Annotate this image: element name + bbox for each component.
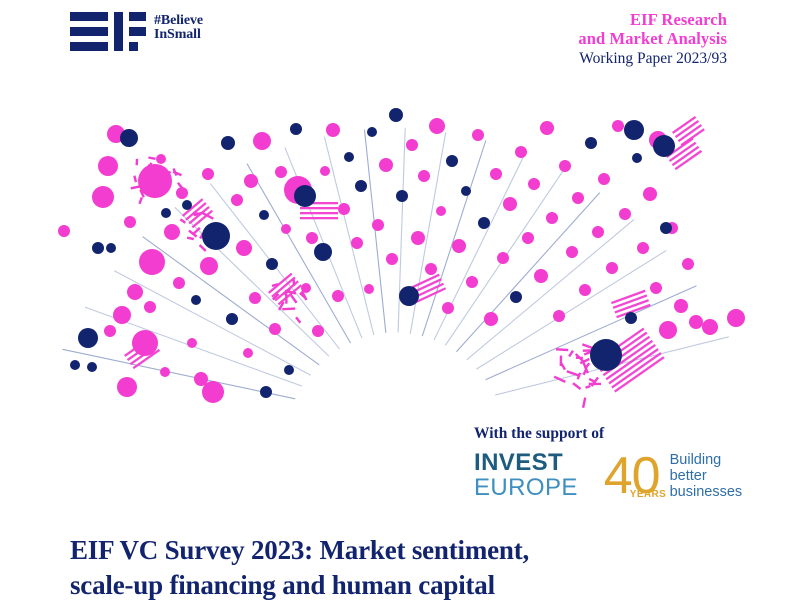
- pink-dot: [619, 208, 631, 220]
- pink-dot: [104, 325, 116, 337]
- pink-dot: [164, 224, 180, 240]
- pink-dot: [598, 173, 610, 185]
- pink-dot: [572, 192, 584, 204]
- pink-dot: [559, 160, 571, 172]
- navy-dot: [87, 362, 97, 372]
- navy-dot: [290, 123, 302, 135]
- pink-dot: [92, 186, 114, 208]
- pink-dot: [528, 178, 540, 190]
- pink-dot: [484, 312, 498, 326]
- pink-dot: [320, 166, 330, 176]
- pink-dot: [200, 257, 218, 275]
- years-label: YEARS: [630, 489, 666, 500]
- navy-dot: [367, 127, 377, 137]
- navy-dot: [510, 291, 522, 303]
- pink-dot: [249, 292, 261, 304]
- pink-dot: [411, 231, 425, 245]
- pink-dot: [173, 277, 185, 289]
- pink-dot: [139, 249, 165, 275]
- eif-logo-icon: [70, 10, 146, 55]
- pink-dot: [236, 240, 252, 256]
- pink-dot: [312, 325, 324, 337]
- pink-dot: [606, 262, 618, 274]
- pink-dot: [144, 301, 156, 313]
- pink-dot: [156, 154, 166, 164]
- pink-dot: [244, 174, 258, 188]
- pink-dot: [187, 338, 197, 348]
- burst-svg: [0, 80, 791, 425]
- pink-dot: [379, 158, 393, 172]
- pink-dot: [231, 194, 243, 206]
- series-title: EIF Research and Market Analysis: [578, 10, 727, 48]
- pink-dot: [351, 237, 363, 249]
- pink-dot: [452, 239, 466, 253]
- ray-line: [467, 219, 634, 359]
- eif-logo-block: #Believe InSmall: [70, 10, 203, 55]
- invest-europe-europe-word: EUROPE: [474, 476, 578, 500]
- tagline-line-2: InSmall: [154, 28, 203, 42]
- pink-dot: [429, 118, 445, 134]
- pink-dot: [306, 232, 318, 244]
- support-logos: INVEST EUROPE 40 YEARS Building better b…: [474, 451, 734, 500]
- pink-dot: [275, 166, 287, 178]
- pink-dot: [243, 348, 253, 358]
- pink-dot: [160, 367, 170, 377]
- radial-burst-graphic: [0, 80, 791, 425]
- navy-dot: [259, 210, 269, 220]
- pink-dot: [98, 156, 118, 176]
- pink-dot: [338, 203, 350, 215]
- pink-dot: [674, 299, 688, 313]
- pink-dot: [612, 120, 624, 132]
- navy-dot: [294, 185, 316, 207]
- page-title: EIF VC Survey 2023: Market sentiment, sc…: [70, 533, 670, 600]
- pink-dot: [637, 242, 649, 254]
- navy-dot: [653, 135, 675, 157]
- navy-dot: [182, 200, 192, 210]
- navy-dot: [478, 217, 490, 229]
- pink-dot: [281, 224, 291, 234]
- navy-dot: [399, 286, 419, 306]
- navy-dot: [590, 339, 622, 371]
- pink-dot: [540, 121, 554, 135]
- series-line-1: EIF Research: [578, 10, 727, 29]
- navy-dot: [161, 208, 171, 218]
- pink-dot: [497, 252, 509, 264]
- pink-dot: [127, 284, 143, 300]
- pink-dot: [386, 253, 398, 265]
- hatch-mark: [268, 273, 302, 306]
- pink-dot: [702, 319, 718, 335]
- navy-dot: [106, 243, 116, 253]
- navy-dot: [202, 222, 230, 250]
- pink-dot: [117, 377, 137, 397]
- cover-page: #Believe InSmall EIF Research and Market…: [0, 0, 791, 600]
- pink-dot: [364, 284, 374, 294]
- navy-dot: [355, 180, 367, 192]
- pink-dot: [579, 284, 591, 296]
- invest-europe-logo: INVEST EUROPE: [474, 451, 591, 500]
- navy-dot: [625, 312, 637, 324]
- slogan-line-1: Building: [670, 452, 743, 468]
- invest-europe-invest-word: INVEST: [474, 451, 578, 475]
- navy-dot: [389, 108, 403, 122]
- pink-dot: [418, 170, 430, 182]
- pink-dot: [553, 310, 565, 322]
- pink-dot: [442, 302, 454, 314]
- navy-dot: [78, 328, 98, 348]
- pink-dot: [503, 197, 517, 211]
- pink-dot: [592, 226, 604, 238]
- working-paper-number: Working Paper 2023/93: [578, 48, 727, 69]
- ray-line: [422, 140, 486, 336]
- navy-dot: [226, 313, 238, 325]
- title-line-1: EIF VC Survey 2023: Market sentiment,: [70, 533, 670, 568]
- pink-dot: [202, 381, 224, 403]
- navy-dot: [624, 120, 644, 140]
- pink-dot: [515, 146, 527, 158]
- pink-dot: [466, 276, 478, 288]
- pink-dot: [132, 330, 158, 356]
- pink-dot: [113, 306, 131, 324]
- support-caption: With the support of: [474, 424, 734, 443]
- series-line-2: and Market Analysis: [578, 29, 727, 48]
- pink-dot: [138, 164, 172, 198]
- support-block: With the support of INVEST EUROPE 40 YEA…: [474, 424, 734, 500]
- pink-dot: [534, 269, 548, 283]
- pink-dot: [727, 309, 745, 327]
- navy-dot: [191, 295, 201, 305]
- navy-dot: [632, 153, 642, 163]
- pink-dot: [58, 225, 70, 237]
- pink-dot: [406, 139, 418, 151]
- publication-meta: EIF Research and Market Analysis Working…: [578, 10, 727, 69]
- navy-dot: [344, 152, 354, 162]
- navy-dot: [660, 222, 672, 234]
- pink-dot: [253, 132, 271, 150]
- pink-dot: [301, 283, 311, 293]
- pink-dot: [176, 187, 188, 199]
- navy-dot: [446, 155, 458, 167]
- ray-line: [143, 237, 320, 365]
- pink-dot: [436, 206, 446, 216]
- navy-dot: [461, 186, 471, 196]
- forty-years-logo: 40 YEARS: [604, 454, 670, 498]
- building-better-businesses-slogan: Building better businesses: [670, 452, 743, 500]
- navy-dot: [585, 137, 597, 149]
- slogan-line-3: businesses: [670, 484, 743, 500]
- tagline-line-1: #Believe: [154, 14, 203, 28]
- speckle-group: [131, 156, 601, 408]
- pink-dot: [372, 219, 384, 231]
- navy-dot: [92, 242, 104, 254]
- pink-dot: [566, 246, 578, 258]
- pink-dot: [659, 321, 677, 339]
- slogan-line-2: better: [670, 468, 743, 484]
- pink-dot: [689, 315, 703, 329]
- navy-dot: [120, 129, 138, 147]
- navy-dot: [284, 365, 294, 375]
- pink-dot: [643, 187, 657, 201]
- pink-dot: [522, 232, 534, 244]
- pink-dot: [490, 168, 502, 180]
- title-line-2: scale-up financing and human capital: [70, 568, 670, 600]
- navy-dot: [260, 386, 272, 398]
- navy-dot: [266, 258, 278, 270]
- pink-dot: [332, 290, 344, 302]
- pink-dot: [682, 258, 694, 270]
- pink-dot: [425, 263, 437, 275]
- pink-dot: [124, 216, 136, 228]
- navy-dot: [396, 190, 408, 202]
- pink-dot: [269, 323, 281, 335]
- ray-line: [456, 193, 599, 352]
- pink-dot: [546, 212, 558, 224]
- navy-dot: [70, 360, 80, 370]
- pink-dot: [650, 282, 662, 294]
- pink-dot: [202, 168, 214, 180]
- believe-insmall-tagline: #Believe InSmall: [154, 10, 203, 42]
- pink-dot: [472, 129, 484, 141]
- navy-dot: [221, 136, 235, 150]
- pink-dot: [326, 123, 340, 137]
- navy-dot: [314, 243, 332, 261]
